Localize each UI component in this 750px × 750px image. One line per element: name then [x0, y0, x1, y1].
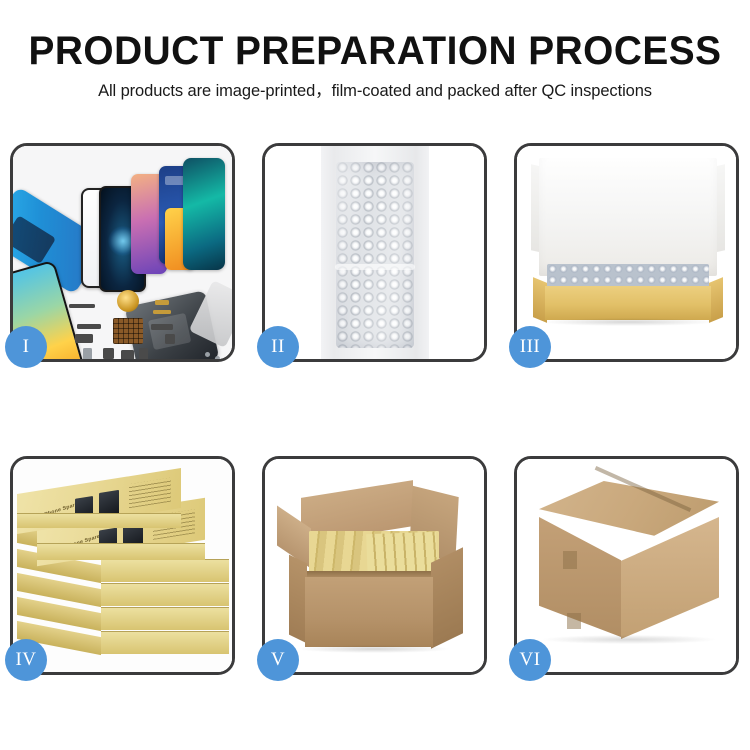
bubble-wrap-seam — [335, 264, 415, 270]
stacked-box-front — [101, 631, 229, 654]
step-badge-2: II — [257, 326, 299, 368]
step-image-3 — [517, 146, 736, 359]
step-panel-1[interactable]: I — [10, 143, 235, 362]
stacked-box-front — [101, 607, 229, 630]
step-image-6 — [517, 459, 736, 672]
step-badge-5: V — [257, 639, 299, 681]
part-strip — [69, 304, 95, 308]
box-printed-lines — [129, 478, 171, 509]
part-screw — [205, 352, 210, 357]
part-button — [83, 348, 92, 359]
carton-shadow — [299, 645, 449, 653]
sealed-carton-right-face — [621, 517, 719, 639]
step-image-5 — [265, 459, 484, 672]
sealed-carton-tab-upper — [563, 551, 577, 569]
box-shadow — [543, 318, 713, 326]
page-title: PRODUCT PREPARATION PROCESS — [11, 0, 739, 73]
spare-parts-cluster — [69, 294, 232, 359]
stacked-box-front — [101, 583, 229, 606]
printed-box-front-2 — [37, 543, 205, 560]
page-header: PRODUCT PREPARATION PROCESS All products… — [0, 0, 750, 102]
part-coil — [117, 290, 139, 312]
part-chip-array — [113, 318, 143, 344]
page-subtitle: All products are image-printed，film-coat… — [0, 73, 750, 102]
sealed-carton-illustration — [517, 459, 736, 672]
part-flex-strip — [151, 324, 173, 330]
inner-box-illustration — [517, 146, 736, 359]
box-lid-white — [539, 158, 717, 276]
part-ribbon — [77, 324, 101, 329]
sealed-carton-shadow — [543, 635, 715, 644]
carton-front — [305, 577, 433, 647]
step-badge-3: III — [509, 326, 551, 368]
phone-display-teal — [183, 158, 225, 270]
step-badge-1: I — [5, 326, 47, 368]
step-panel-6[interactable]: VI — [514, 456, 739, 675]
step-badge-4: IV — [5, 639, 47, 681]
sealed-carton-tab-lower — [567, 613, 581, 629]
step-badge-6: VI — [509, 639, 551, 681]
step-image-4: Mobile Phone Spare Parts Mobile Phone Sp… — [13, 459, 232, 672]
phone-parts-illustration — [13, 146, 232, 359]
part-speaker — [103, 348, 114, 359]
open-carton-illustration — [265, 459, 484, 672]
step-image-2 — [265, 146, 484, 359]
part-camera — [121, 350, 134, 359]
step-image-1 — [13, 146, 232, 359]
step-panel-3[interactable]: III — [514, 143, 739, 362]
printed-box-front-1 — [17, 513, 181, 528]
part-bracket — [139, 348, 148, 359]
bubble-wrap-gloss — [336, 162, 414, 348]
part-screw — [215, 356, 220, 359]
step-panel-5[interactable]: V — [262, 456, 487, 675]
part-ic-chip — [165, 334, 175, 344]
box-front-yellow — [545, 286, 711, 320]
step-panel-2[interactable]: II — [262, 143, 487, 362]
process-steps-grid: I II III — [10, 143, 740, 675]
bubble-wrap-illustration — [265, 146, 484, 359]
box-side-right — [709, 277, 723, 323]
part-module — [75, 334, 93, 343]
stacked-boxes-illustration: Mobile Phone Spare Parts Mobile Phone Sp… — [13, 459, 232, 672]
stacked-box-front — [101, 559, 229, 582]
part-flex-cable — [153, 310, 171, 314]
part-connector — [155, 300, 169, 305]
carton-side-right — [431, 547, 463, 649]
step-panel-4[interactable]: Mobile Phone Spare Parts Mobile Phone Sp… — [10, 456, 235, 675]
